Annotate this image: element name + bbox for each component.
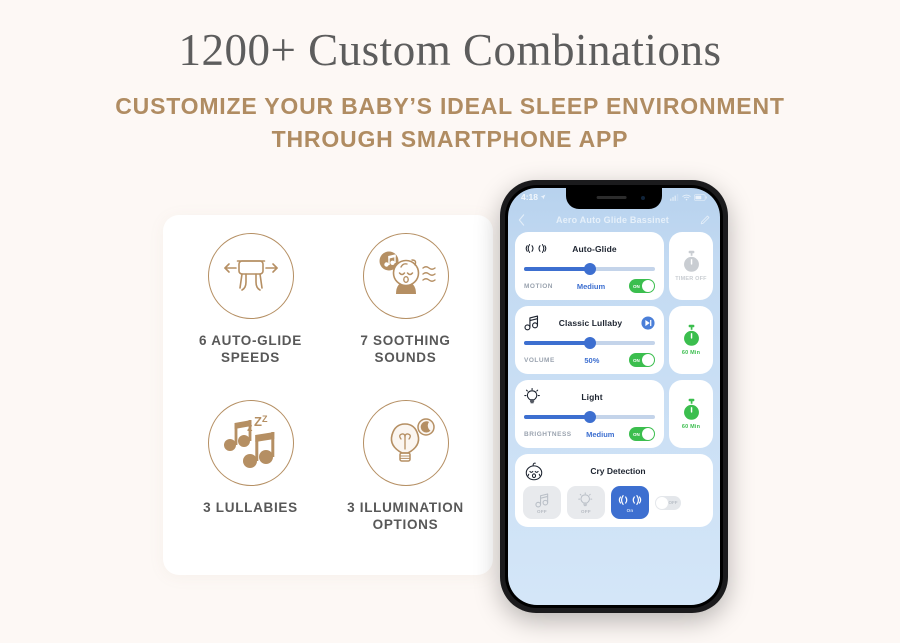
power-toggle[interactable]: ON — [629, 279, 655, 293]
slider-thumb[interactable] — [584, 337, 596, 349]
svg-text:z: z — [247, 422, 253, 434]
cry-detection-actions: OFF — [523, 486, 705, 519]
feature-label-line-2: OPTIONS — [347, 516, 464, 533]
subtitle-line-2: THROUGH SMARTPHONE APP — [0, 123, 900, 156]
control-row-lullaby: Classic Lullaby — [515, 306, 713, 374]
lightbulb-moon-icon — [374, 415, 438, 471]
feature-ring — [208, 233, 294, 319]
page-title: 1200+ Custom Combinations — [0, 24, 900, 76]
toggle-label: ON — [633, 432, 640, 437]
motion-waves-icon — [524, 242, 548, 255]
status-time: 4:18 — [521, 192, 538, 202]
smartphone-mockup: 4:18 — [500, 180, 728, 613]
control-title: Classic Lullaby — [546, 318, 635, 328]
slider-auto-glide[interactable] — [524, 263, 655, 274]
feature-label-line-1: 7 SOOTHING — [360, 332, 450, 349]
control-value: Medium — [586, 430, 614, 439]
battery-icon — [694, 194, 707, 201]
toggle-label: ON — [633, 358, 640, 363]
feature-label: 7 SOOTHING SOUNDS — [360, 332, 450, 366]
stopwatch-icon — [681, 324, 702, 347]
page-subtitle: CUSTOMIZE YOUR BABY’S IDEAL SLEEP ENVIRO… — [0, 90, 900, 156]
motion-waves-icon — [617, 493, 643, 507]
power-toggle[interactable]: ON — [629, 353, 655, 367]
control-footer: MOTION Medium ON — [524, 279, 655, 293]
timer-button-light[interactable]: 60 Min — [669, 380, 713, 448]
location-arrow-icon — [540, 194, 546, 200]
earpiece-speaker — [597, 196, 627, 199]
control-card-lullaby[interactable]: Classic Lullaby — [515, 306, 664, 374]
front-camera — [641, 196, 646, 201]
feature-ring — [363, 400, 449, 486]
timer-label: TIMER OFF — [675, 276, 706, 282]
control-title: Light — [549, 392, 635, 402]
control-card-auto-glide[interactable]: Auto-Glide MOTION Medium ON — [515, 232, 664, 300]
feature-label-line-1: 6 AUTO-GLIDE — [199, 332, 302, 349]
feature-ring — [363, 233, 449, 319]
feature-label-line-2: SPEEDS — [199, 349, 302, 366]
cry-detection-header: Cry Detection — [523, 461, 705, 480]
timer-label: 60 Min — [682, 350, 700, 356]
play-next-icon[interactable] — [641, 316, 655, 330]
phone-notch — [566, 188, 662, 209]
feature-item-auto-glide: 6 AUTO-GLIDE SPEEDS — [173, 233, 328, 400]
slider-fill — [524, 415, 590, 419]
feature-item-illumination: 3 ILLUMINATION OPTIONS — [328, 400, 483, 567]
slider-thumb[interactable] — [584, 263, 596, 275]
control-value: 50% — [584, 356, 599, 365]
feature-label: 3 ILLUMINATION OPTIONS — [347, 499, 464, 533]
control-header: Classic Lullaby — [524, 313, 655, 332]
feature-label: 3 LULLABIES — [203, 499, 298, 516]
music-note-icon — [524, 314, 540, 331]
control-row-auto-glide: Auto-Glide MOTION Medium ON — [515, 232, 713, 300]
back-chevron-icon[interactable] — [518, 214, 525, 226]
music-notes-sleep-icon: z Z Z — [220, 415, 282, 471]
bassinet-glide-icon — [220, 252, 282, 300]
cry-action-label: OFF — [581, 509, 591, 514]
cry-action-label: On — [627, 508, 634, 513]
feature-card: 6 AUTO-GLIDE SPEEDS — [163, 215, 493, 575]
light-bulb-icon — [578, 492, 595, 508]
svg-text:Z: Z — [254, 415, 262, 429]
cry-action-label: OFF — [537, 509, 547, 514]
slider-brightness[interactable] — [524, 411, 655, 422]
feature-label: 6 AUTO-GLIDE SPEEDS — [199, 332, 302, 366]
feature-item-soothing-sounds: 7 SOOTHING SOUNDS — [328, 233, 483, 400]
feature-item-lullabies: z Z Z 3 LULLABIES — [173, 400, 328, 567]
control-header: Auto-Glide — [524, 239, 655, 258]
cry-action-light[interactable]: OFF — [567, 486, 605, 519]
control-value: Medium — [577, 282, 605, 291]
light-bulb-icon — [524, 388, 543, 405]
edit-pencil-icon[interactable] — [700, 215, 710, 225]
cry-detection-toggle[interactable]: OFF — [655, 496, 681, 510]
control-meta-label: BRIGHTNESS — [524, 431, 572, 438]
control-footer: BRIGHTNESS Medium ON — [524, 427, 655, 441]
power-toggle[interactable]: ON — [629, 427, 655, 441]
timer-button-lullaby[interactable]: 60 Min — [669, 306, 713, 374]
feature-ring: z Z Z — [208, 400, 294, 486]
signal-bars-icon — [670, 194, 679, 201]
control-title: Auto-Glide — [554, 244, 635, 254]
stopwatch-icon — [681, 250, 702, 273]
app-bar-title: Aero Auto Glide Bassinet — [525, 215, 700, 225]
timer-button-auto-glide[interactable]: TIMER OFF — [669, 232, 713, 300]
cry-action-motion[interactable]: On — [611, 486, 649, 519]
toggle-knob — [642, 354, 654, 366]
svg-text:Z: Z — [262, 415, 268, 424]
control-footer: VOLUME 50% ON — [524, 353, 655, 367]
control-card-light[interactable]: Light BRIGHTNESS Medium ON — [515, 380, 664, 448]
control-meta-label: VOLUME — [524, 357, 555, 364]
slider-fill — [524, 341, 590, 345]
slider-thumb[interactable] — [584, 411, 596, 423]
feature-label-line-2: SOUNDS — [360, 349, 450, 366]
app-bar: Aero Auto Glide Bassinet — [508, 210, 720, 230]
phone-bezel: 4:18 — [505, 185, 723, 608]
toggle-label: ON — [633, 284, 640, 289]
cry-action-sound[interactable]: OFF — [523, 486, 561, 519]
toggle-knob — [642, 428, 654, 440]
feature-grid: 6 AUTO-GLIDE SPEEDS — [163, 215, 493, 575]
slider-volume[interactable] — [524, 337, 655, 348]
subtitle-line-1: CUSTOMIZE YOUR BABY’S IDEAL SLEEP ENVIRO… — [0, 90, 900, 123]
toggle-label: OFF — [669, 500, 678, 505]
headings-block: 1200+ Custom Combinations CUSTOMIZE YOUR… — [0, 0, 900, 156]
control-row-light: Light BRIGHTNESS Medium ON — [515, 380, 713, 448]
slider-fill — [524, 267, 590, 271]
toggle-knob — [642, 280, 654, 292]
control-meta-label: MOTION — [524, 283, 553, 290]
cry-detection-title: Cry Detection — [551, 466, 685, 476]
crying-baby-icon — [523, 461, 545, 481]
feature-label-line-1: 3 LULLABIES — [203, 499, 298, 516]
control-header: Light — [524, 387, 655, 406]
wifi-icon — [682, 194, 691, 201]
toggle-knob — [656, 497, 668, 509]
cry-detection-card: Cry Detection — [515, 454, 713, 527]
baby-sound-icon — [373, 248, 439, 304]
feature-label-line-1: 3 ILLUMINATION — [347, 499, 464, 516]
phone-screen: 4:18 — [508, 188, 720, 605]
stopwatch-icon — [681, 398, 702, 421]
control-cards-list: Auto-Glide MOTION Medium ON — [508, 232, 720, 527]
music-note-icon — [535, 492, 550, 508]
timer-label: 60 Min — [682, 424, 700, 430]
